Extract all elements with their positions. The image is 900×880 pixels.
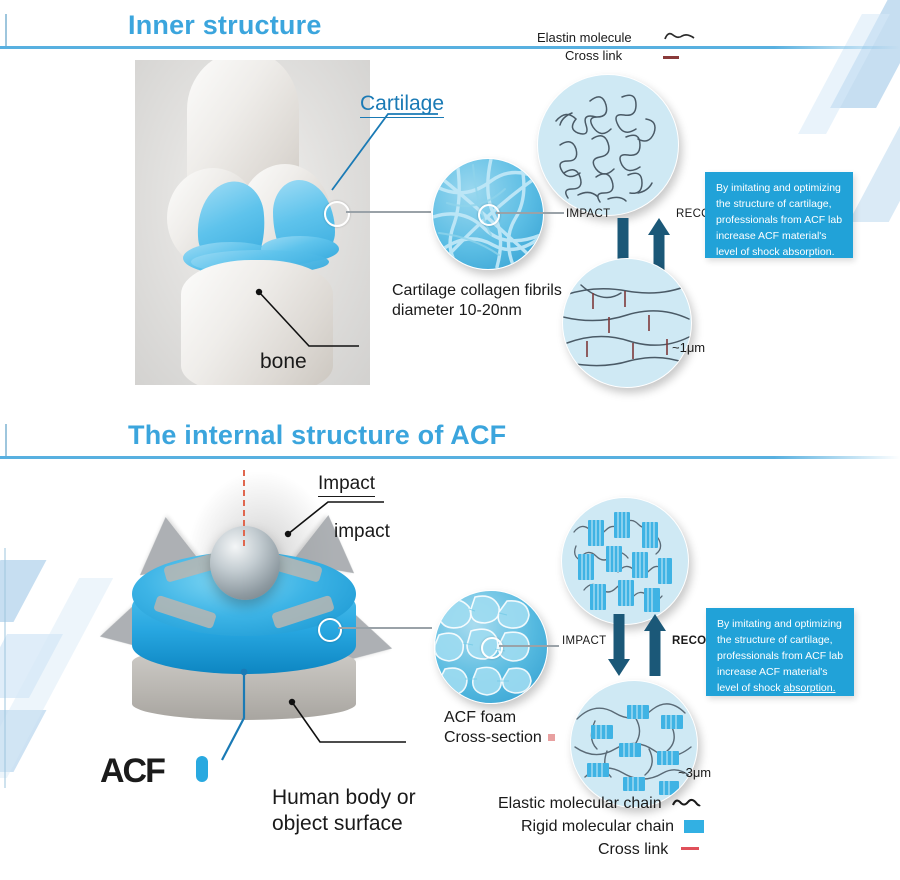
foam-caption-line1: ACF foam bbox=[444, 709, 516, 727]
info-box-top-line3: professionals from ACF lab bbox=[716, 213, 843, 229]
logo-leader-line bbox=[206, 668, 250, 764]
info-box-bottom-line3: professionals from ACF lab bbox=[717, 649, 844, 665]
recovery-arrow-bottom bbox=[644, 614, 666, 676]
elastin-coil-micrograph bbox=[537, 74, 679, 216]
info-box-bottom-line4: increase ACF material's bbox=[717, 665, 844, 681]
acf-logo-text: ACF bbox=[100, 752, 164, 791]
squiggle-icon-legend bbox=[671, 797, 701, 811]
info-box-top-line5: level of shock absorption. bbox=[716, 245, 843, 261]
knee-zoom-ring bbox=[324, 201, 350, 227]
compressed-chain-drawing bbox=[562, 498, 688, 624]
info-box-bottom-line5-pre: level of shock bbox=[717, 682, 784, 694]
title-rule-bottom bbox=[0, 456, 900, 459]
legend-label-rigid: Rigid molecular chain bbox=[521, 818, 674, 835]
impact-label-lower: impact bbox=[334, 521, 390, 543]
blue-square-icon-legend bbox=[684, 820, 704, 833]
info-box-bottom-line2: the structure of cartilage, bbox=[717, 633, 844, 649]
surface-label-line1: Human body or bbox=[272, 786, 416, 810]
legend-label-crosslink: Cross link bbox=[598, 841, 668, 858]
decor-vertical-tick-left bbox=[4, 548, 6, 788]
info-box-bottom-line5: level of shock absorption. bbox=[717, 681, 844, 697]
cartilage-leader-line bbox=[326, 110, 442, 196]
legend-row-crosslink: Cross link bbox=[598, 841, 699, 859]
cross-link-label-top: Cross link bbox=[565, 48, 622, 63]
knee-to-fibril-connector bbox=[346, 211, 431, 213]
info-box-top: By imitating and optimizing the structur… bbox=[705, 172, 853, 258]
title-rule-tick-top bbox=[5, 14, 7, 46]
impact-axis-dashed-line bbox=[243, 470, 245, 546]
fibril-caption-line1: Cartilage collagen fibrils bbox=[392, 282, 562, 300]
infographic-canvas: Inner structure bone Cartilage Elastin m… bbox=[0, 0, 900, 880]
scale-label-top: ~1μm bbox=[672, 340, 705, 355]
elastin-molecule-label: Elastin molecule bbox=[537, 30, 632, 45]
foam-to-impact-connector bbox=[499, 645, 559, 647]
relaxed-network-drawing bbox=[571, 681, 697, 807]
fibril-caption-line2: diameter 10-20nm bbox=[392, 302, 522, 320]
red-dash-icon-legend bbox=[681, 847, 699, 850]
foam-zoom-ring bbox=[481, 637, 503, 659]
info-box-bottom: By imitating and optimizing the structur… bbox=[706, 608, 854, 696]
puck-to-foam-connector bbox=[338, 627, 432, 629]
fibril-to-impact-connector bbox=[496, 212, 564, 214]
foam-caption-line2: Cross-section bbox=[444, 729, 542, 747]
decor-stripe-bl-1 bbox=[0, 560, 46, 622]
legend-label-elastic: Elastic molecular chain bbox=[498, 795, 662, 812]
stretched-chain-drawing bbox=[563, 259, 691, 387]
dash-icon-top bbox=[663, 56, 679, 59]
compressed-chain-micrograph bbox=[561, 497, 689, 625]
squiggle-icon bbox=[663, 30, 695, 46]
bone-label: bone bbox=[260, 350, 307, 374]
legend-row-rigid: Rigid molecular chain bbox=[521, 818, 704, 836]
puck-zoom-ring bbox=[318, 618, 342, 642]
info-box-top-line4: increase ACF material's bbox=[716, 229, 843, 245]
title-rule-top bbox=[0, 46, 900, 49]
info-box-top-line1: By imitating and optimizing bbox=[716, 181, 843, 197]
surface-leader-line bbox=[286, 698, 408, 750]
foam-caption-marker-icon bbox=[548, 734, 555, 741]
relaxed-network-micrograph bbox=[570, 680, 698, 808]
surface-label-line2: object surface bbox=[272, 812, 403, 836]
legend-row-elastic: Elastic molecular chain bbox=[498, 795, 701, 813]
section-title-acf-structure: The internal structure of ACF bbox=[128, 420, 506, 451]
elastin-coil-drawing bbox=[538, 75, 678, 215]
impact-label-upper: Impact bbox=[318, 473, 375, 497]
impact-arrow-bottom bbox=[608, 614, 630, 676]
impact-ball bbox=[210, 526, 280, 600]
info-box-bottom-line1: By imitating and optimizing bbox=[717, 617, 844, 633]
impact-caption-top: IMPACT bbox=[566, 208, 610, 220]
scale-label-bottom: ~3μm bbox=[678, 765, 711, 780]
fibril-zoom-ring bbox=[478, 204, 500, 226]
title-rule-tick-bottom bbox=[5, 424, 7, 456]
info-box-top-line2: the structure of cartilage, bbox=[716, 197, 843, 213]
impact-caption-bottom: IMPACT bbox=[562, 635, 606, 647]
decor-stripe-tr-3 bbox=[849, 112, 900, 222]
cartilage-label: Cartilage bbox=[360, 92, 444, 118]
stretched-chain-micrograph bbox=[562, 258, 692, 388]
acf-logo-mark bbox=[196, 756, 208, 782]
section-title-inner-structure: Inner structure bbox=[128, 10, 322, 41]
info-box-bottom-line5-underlined: absorption. bbox=[784, 682, 836, 694]
